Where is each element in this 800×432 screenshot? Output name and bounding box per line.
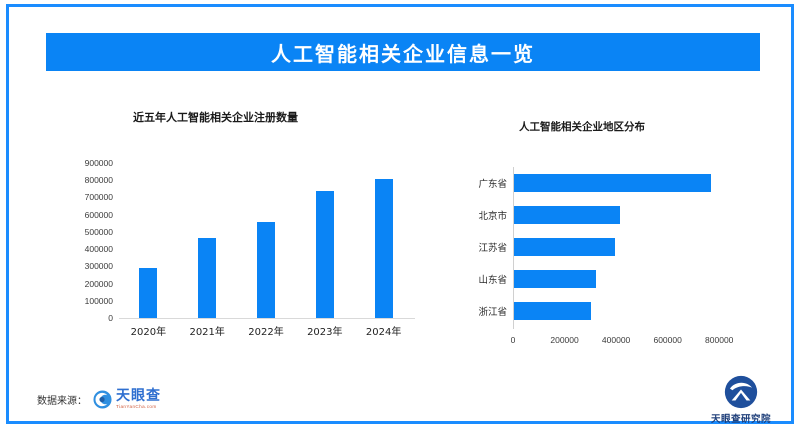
right-chart-x-tick-label: 0 <box>511 335 516 345</box>
research-institute-brand: 天眼查研究院 <box>699 375 783 425</box>
right-chart-category-label: 江苏省 <box>478 240 507 254</box>
tianyancha-mark-icon <box>93 390 112 409</box>
left-chart-y-axis-labels: 0100000200000300000400000500000600000700… <box>53 155 113 325</box>
tianyancha-wordmark: 天眼查 TianYanCha.com <box>116 389 161 410</box>
registration-count-chart: 近五年人工智能相关企业注册数量 010000020000030000040000… <box>23 95 423 355</box>
left-chart-x-axis-labels: 2020年2021年2022年2023年2024年 <box>119 323 413 343</box>
left-chart-title: 近五年人工智能相关企业注册数量 <box>133 109 298 125</box>
left-chart-x-tick-label: 2021年 <box>189 323 224 338</box>
left-chart-y-tick-label: 500000 <box>85 227 113 237</box>
region-distribution-chart: 人工智能相关企业地区分布 广东省北京市江苏省山东省浙江省 02000004000… <box>429 107 799 357</box>
left-chart-x-tick-label: 2023年 <box>307 323 342 338</box>
left-chart-y-tick-label: 400000 <box>85 244 113 254</box>
left-chart-plot-area <box>119 163 413 318</box>
right-chart-bar <box>514 302 591 320</box>
page-title: 人工智能相关企业信息一览 <box>271 38 535 67</box>
left-chart-bar <box>257 222 275 318</box>
left-chart-y-tick-label: 700000 <box>85 192 113 202</box>
right-chart-bar-row: 北京市 <box>513 206 745 224</box>
left-chart-y-tick-label: 300000 <box>85 261 113 271</box>
right-chart-x-tick-label: 800000 <box>705 335 733 345</box>
left-chart-x-tick-label: 2024年 <box>366 323 401 338</box>
data-source-label: 数据来源： <box>37 392 87 407</box>
left-chart-y-tick-label: 600000 <box>85 210 113 220</box>
tianyancha-name-en: TianYanCha.com <box>116 405 161 410</box>
right-chart-category-label: 北京市 <box>478 208 507 222</box>
left-chart-x-axis-line <box>119 318 415 319</box>
left-chart-y-tick-label: 0 <box>108 313 113 323</box>
left-chart-bar <box>139 268 157 318</box>
right-chart-bar <box>514 206 620 224</box>
right-chart-category-label: 浙江省 <box>478 304 507 318</box>
research-institute-emblem-icon <box>724 375 758 409</box>
right-chart-bar-row: 山东省 <box>513 270 745 288</box>
poster-title-banner: 人工智能相关企业信息一览 <box>46 33 760 71</box>
right-chart-bar <box>514 270 596 288</box>
left-chart-bar <box>316 191 334 318</box>
left-chart-bar <box>198 238 216 318</box>
right-chart-x-axis-labels: 0200000400000600000800000 <box>513 335 745 351</box>
right-chart-bar <box>514 238 615 256</box>
infographic-poster: 人工智能相关企业信息一览 近五年人工智能相关企业注册数量 01000002000… <box>6 4 794 424</box>
left-chart-bar <box>375 179 393 319</box>
tianyancha-logo: 天眼查 TianYanCha.com <box>93 389 161 410</box>
right-chart-bar-row: 江苏省 <box>513 238 745 256</box>
research-institute-name: 天眼查研究院 <box>711 411 771 425</box>
left-chart-y-tick-label: 100000 <box>85 296 113 306</box>
left-chart-y-tick-label: 200000 <box>85 279 113 289</box>
left-chart-x-tick-label: 2020年 <box>131 323 166 338</box>
right-chart-bar <box>514 174 711 192</box>
data-source: 数据来源： 天眼查 TianYanCha.com <box>37 389 161 410</box>
left-chart-y-tick-label: 800000 <box>85 175 113 185</box>
right-chart-x-tick-label: 200000 <box>550 335 578 345</box>
right-chart-bar-row: 广东省 <box>513 174 745 192</box>
right-chart-bar-row: 浙江省 <box>513 302 745 320</box>
left-chart-x-tick-label: 2022年 <box>248 323 283 338</box>
right-chart-x-tick-label: 600000 <box>653 335 681 345</box>
right-chart-category-label: 广东省 <box>478 176 507 190</box>
right-chart-category-label: 山东省 <box>478 272 507 286</box>
right-chart-title: 人工智能相关企业地区分布 <box>519 119 645 134</box>
tianyancha-name-cn: 天眼查 <box>116 389 161 403</box>
right-chart-x-tick-label: 400000 <box>602 335 630 345</box>
left-chart-y-tick-label: 900000 <box>85 158 113 168</box>
poster-background: 人工智能相关企业信息一览 近五年人工智能相关企业注册数量 01000002000… <box>9 7 791 421</box>
right-chart-plot-area: 广东省北京市江苏省山东省浙江省 <box>513 167 745 327</box>
